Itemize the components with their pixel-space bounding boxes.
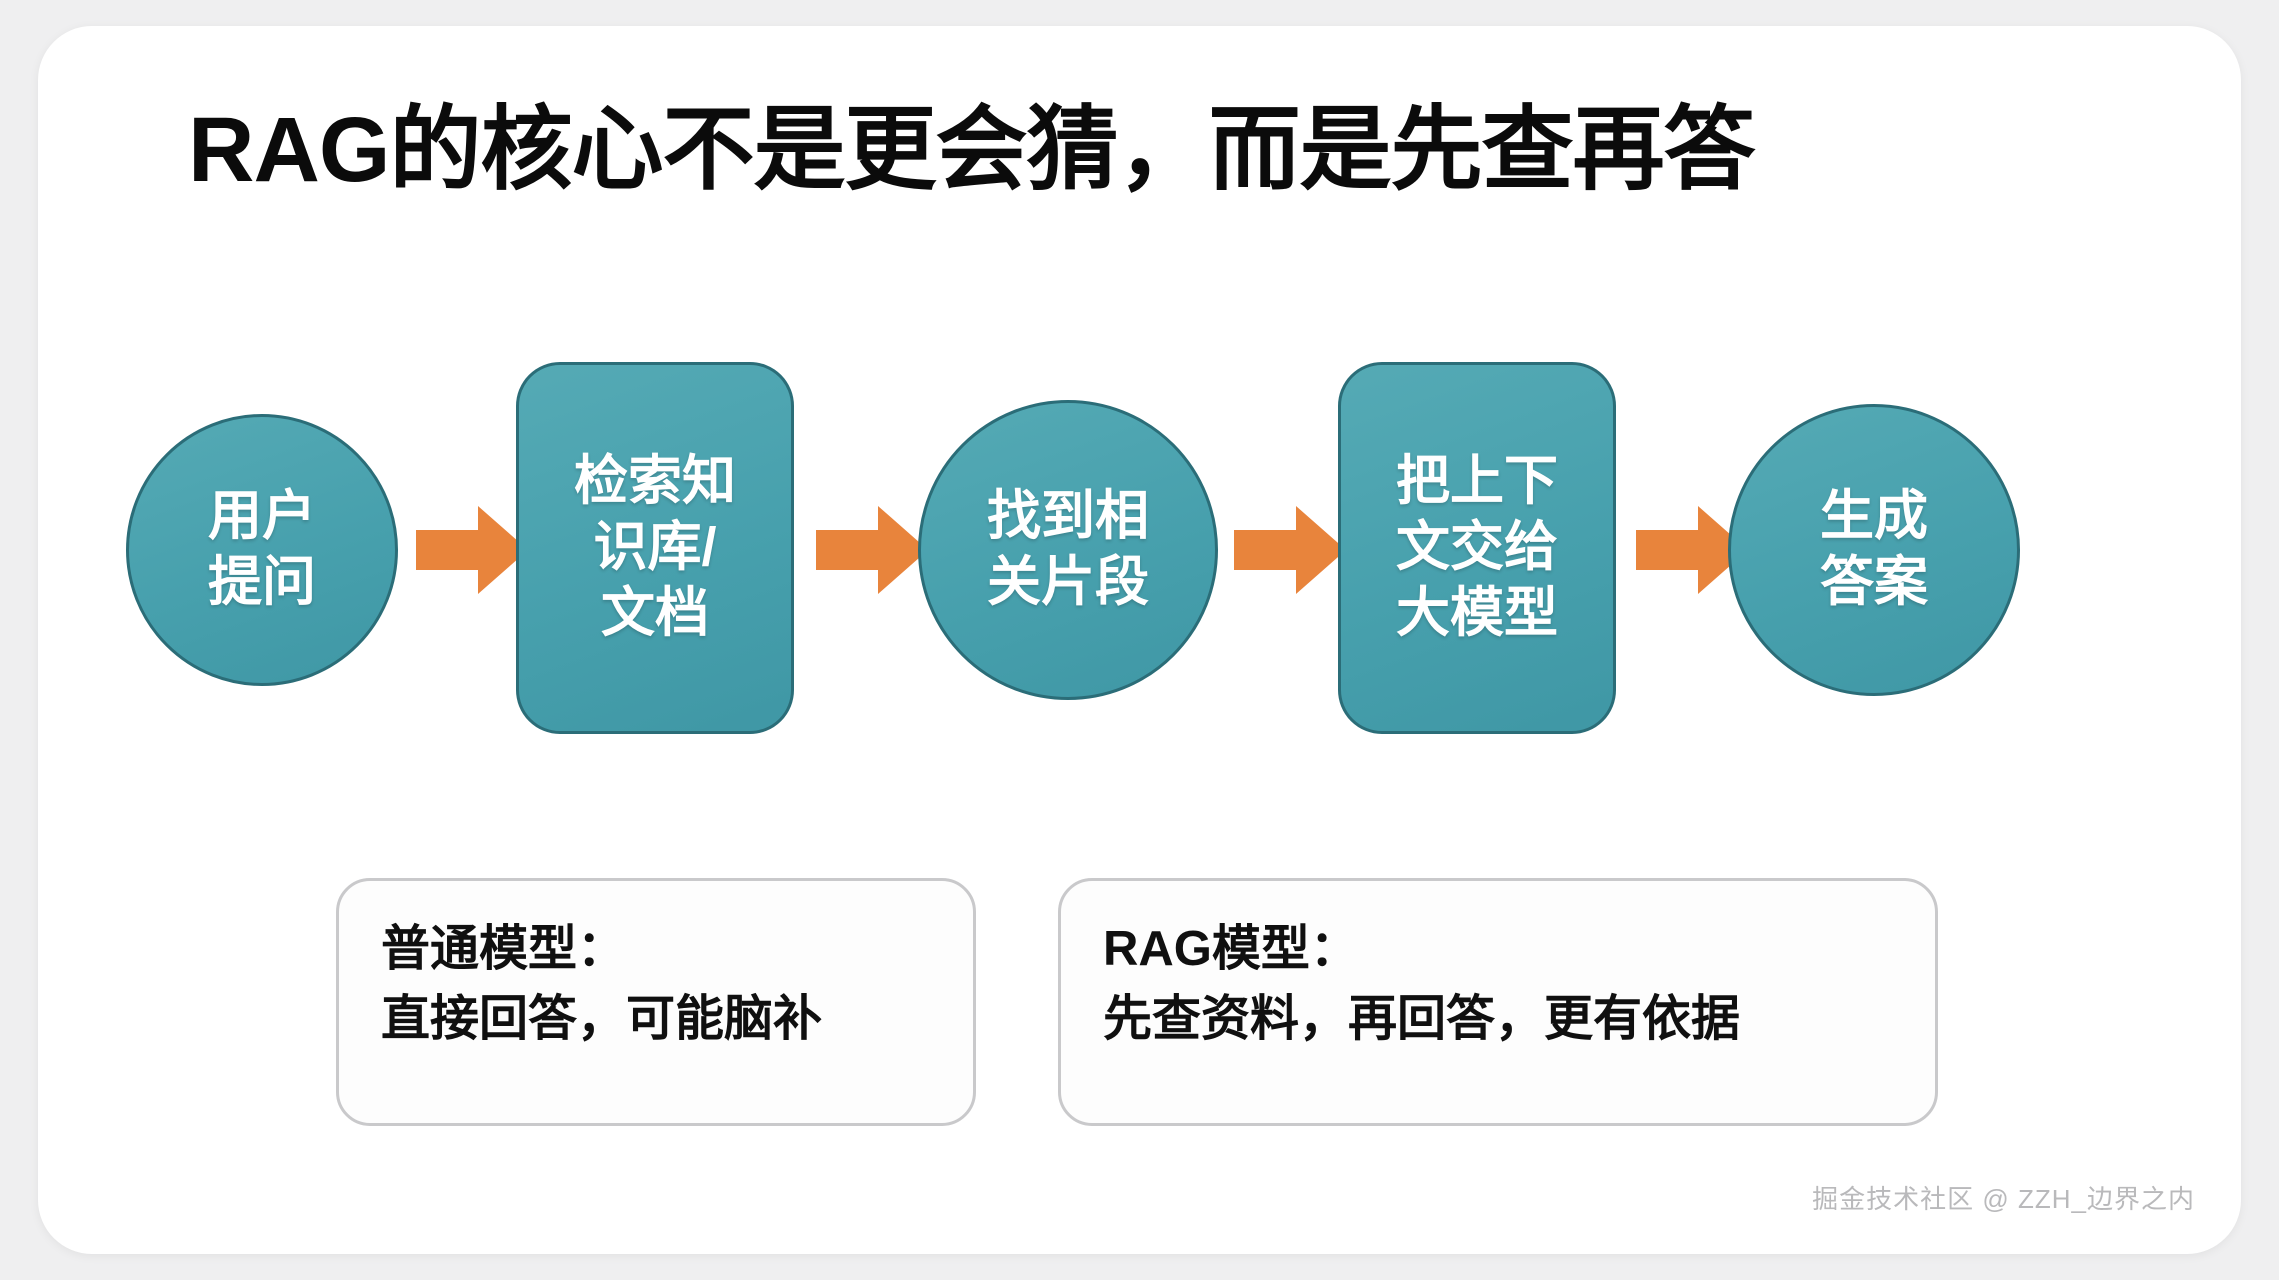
flow-node-label: 把上下 文交给 大模型 — [1396, 449, 1558, 647]
watermark: 掘金技术社区 @ ZZH_边界之内 — [1812, 1179, 2195, 1216]
right-arrow-icon — [416, 504, 528, 596]
flow-node-label: 检索知 识库/ 文档 — [574, 449, 736, 647]
flow-node-find-snippets[interactable]: 找到相 关片段 — [918, 400, 1218, 700]
flow-node-label: 用户 提问 — [208, 484, 316, 616]
right-arrow-icon — [816, 504, 928, 596]
comparison-box-plain-model: 普通模型： 直接回答，可能脑补 — [336, 878, 976, 1126]
comparison-box-rag-model: RAG模型： 先查资料，再回答，更有依据 — [1058, 878, 1938, 1126]
rag-flow-diagram: 用户 提问 检索知 识库/ 文档 找到相 关片段 把上下 文交给 大模型 — [38, 362, 2241, 762]
page-title: RAG的核心不是更会猜，而是先查再答 — [188, 98, 2188, 204]
flow-node-label: 找到相 关片段 — [987, 484, 1149, 616]
flow-node-context-to-llm[interactable]: 把上下 文交给 大模型 — [1338, 362, 1616, 734]
slide-card: RAG的核心不是更会猜，而是先查再答 用户 提问 检索知 识库/ 文档 找到相 … — [38, 26, 2241, 1254]
flow-node-label: 生成 答案 — [1820, 484, 1928, 616]
flow-node-generate-answer[interactable]: 生成 答案 — [1728, 404, 2020, 696]
flow-node-user-question[interactable]: 用户 提问 — [126, 414, 398, 686]
flow-node-retrieve-kb[interactable]: 检索知 识库/ 文档 — [516, 362, 794, 734]
right-arrow-icon — [1234, 504, 1346, 596]
